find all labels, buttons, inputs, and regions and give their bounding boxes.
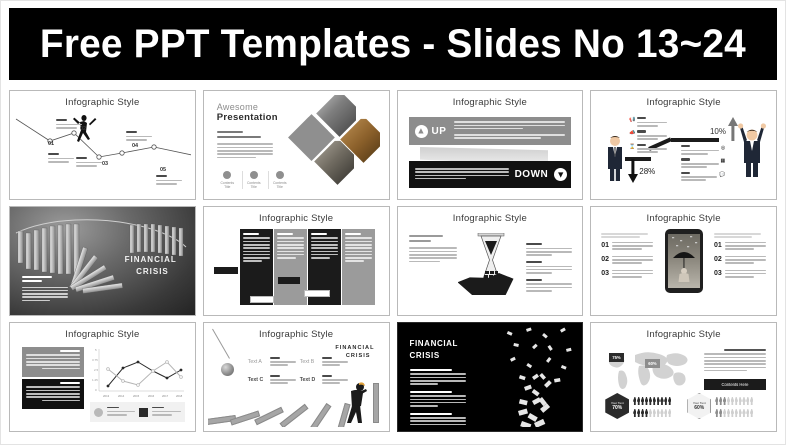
crisis-title-line2: CRISIS	[136, 267, 169, 276]
label-text-b: Text B	[300, 359, 314, 365]
svg-text:2018: 2018	[176, 394, 183, 398]
slide-thumb-21[interactable]: Infographic Style 53.752.51.250	[9, 322, 196, 432]
content-columns: Contents Title Contents Title Contents T…	[216, 171, 288, 189]
megaphone-icon: 📢	[629, 117, 635, 128]
people-row-3	[715, 397, 753, 405]
label-body-c	[270, 375, 296, 386]
slide-title: Infographic Style	[595, 329, 772, 340]
item-number: 02	[601, 256, 609, 266]
slide-thumb-15[interactable]: Infographic Style ▲ UP DOWN	[397, 90, 584, 200]
falling-money-photo	[474, 327, 578, 427]
up-body	[446, 121, 571, 140]
content-column[interactable]: Contents Title	[242, 171, 262, 189]
crisis-title-line2: CRISIS	[410, 351, 440, 360]
down-label: DOWN	[515, 169, 549, 180]
item-number: 02	[714, 256, 722, 266]
up-band: ▲ UP	[409, 117, 572, 145]
crisis-title-line1: FINANCIAL	[410, 339, 459, 348]
crisis-title-line2: CRISIS	[346, 353, 371, 359]
item-3	[526, 279, 572, 292]
slide-title: Infographic Style	[402, 97, 579, 108]
point-text-03	[76, 157, 102, 168]
slide-title: Infographic Style	[595, 97, 772, 108]
banner-title: Free PPT Templates - Slides No 13~24	[40, 22, 746, 67]
item-2	[410, 391, 466, 407]
arrow-up-icon: ▲	[415, 125, 428, 138]
businessman-celebrating-icon	[738, 121, 766, 177]
slide-caption	[409, 235, 457, 264]
slide-title: Infographic Style	[595, 213, 772, 224]
chart-icon	[250, 171, 258, 179]
content-column[interactable]: Contents Title	[268, 171, 288, 189]
content-box-gray[interactable]	[22, 347, 84, 377]
target-icon: ◎	[721, 145, 725, 156]
bullhorn-icon: 📣	[629, 130, 635, 141]
left-column: 01 02 03	[601, 233, 653, 279]
column-label-line2: Title	[272, 185, 288, 189]
point-text-05	[156, 175, 182, 186]
slide-grid: Infographic Style 01 02	[9, 90, 777, 432]
slide-thumb-18[interactable]: Infographic Style	[203, 206, 390, 316]
stair-step-high	[671, 138, 719, 142]
point-text-02	[56, 119, 82, 130]
slide-title: Infographic Style	[14, 329, 191, 340]
calculator-icon: ▦	[721, 158, 726, 169]
domino-standing	[373, 383, 379, 423]
badge-value: 70%	[612, 405, 622, 411]
businessman-standing-icon	[603, 135, 627, 181]
slide-title: Infographic Style	[208, 329, 385, 340]
point-number-01: 01	[48, 141, 54, 147]
content-column[interactable]: Contents Title	[216, 171, 236, 189]
coin-icon	[94, 408, 103, 417]
tag-label-3[interactable]	[278, 277, 300, 284]
point-text-04	[126, 131, 152, 142]
item-2	[526, 261, 572, 274]
body-block	[704, 349, 766, 373]
item-number: 03	[601, 270, 609, 280]
slide-thumb-17[interactable]: FINANCIAL CRISIS	[9, 206, 196, 316]
label-text-c: Text C	[248, 377, 263, 383]
man-pushing-silhouette	[345, 381, 367, 423]
tag-label-1[interactable]	[214, 267, 238, 274]
up-label: UP	[432, 126, 447, 137]
tag-label-4[interactable]	[304, 290, 330, 297]
slide-thumb-20[interactable]: Infographic Style	[590, 206, 777, 316]
svg-text:2015: 2015	[133, 394, 140, 398]
column-4[interactable]	[342, 229, 375, 305]
svg-text:0: 0	[95, 388, 97, 392]
slide-thumb-13[interactable]: Infographic Style 01 02	[9, 90, 196, 200]
svg-text:2017: 2017	[162, 394, 169, 398]
slide-thumb-14[interactable]: Awesome Presentation	[203, 90, 390, 200]
stat-badge-1: Your Text 70%	[605, 393, 629, 419]
banner: Free PPT Templates - Slides No 13~24	[9, 8, 777, 80]
slide-title: Infographic Style	[402, 213, 579, 224]
chat-icon: 💬	[719, 172, 725, 183]
svg-text:1.25: 1.25	[92, 378, 98, 382]
label-text-a: Text A	[248, 359, 262, 365]
wrecking-ball-icon	[221, 363, 234, 376]
svg-text:2.5: 2.5	[94, 368, 99, 372]
slide-title: Infographic Style	[208, 213, 385, 224]
right-column: 01 02 03	[714, 233, 766, 279]
people-row-1	[633, 397, 671, 405]
point-number-05: 05	[160, 167, 166, 173]
dual-line-chart: 53.752.51.250 201320142015 201620172018	[90, 347, 186, 401]
svg-text:3.75: 3.75	[92, 358, 98, 362]
items	[410, 369, 466, 427]
svg-text:2016: 2016	[148, 394, 155, 398]
label-text-d: Text D	[300, 377, 315, 383]
cart-icon	[139, 408, 148, 417]
column-label-line2: Title	[246, 185, 262, 189]
document-icon	[223, 171, 231, 179]
item-3	[410, 413, 466, 427]
item-number: 03	[714, 270, 722, 280]
umbrella-money-rain-photo	[668, 234, 700, 288]
right-items	[526, 243, 572, 293]
slide-thumb-24[interactable]: Infographic Style 75% 60%	[590, 322, 777, 432]
svg-text:2014: 2014	[118, 394, 125, 398]
svg-text:5: 5	[95, 348, 97, 352]
hourglass-icon: ⌛	[629, 144, 635, 155]
ppt-template-gallery: Free PPT Templates - Slides No 13~24 Inf…	[0, 0, 786, 445]
left-items: 📢 📣 ⌛	[629, 117, 667, 155]
cta-button[interactable]: Contents Here	[704, 379, 766, 390]
slide-thumb-16[interactable]: Infographic Style	[590, 90, 777, 200]
phone-screen-photo	[668, 234, 700, 288]
arrow-down-icon: ▼	[554, 168, 567, 181]
down-body	[409, 168, 515, 181]
arrow-up-icon	[728, 117, 738, 141]
crisis-title-line1: FINANCIAL	[125, 255, 177, 264]
column-1[interactable]	[240, 229, 273, 305]
slide-caption	[22, 276, 68, 303]
slide-thumb-23[interactable]: FINANCIAL CRISIS	[397, 322, 584, 432]
stat-badge-2: Your Text 60%	[687, 393, 711, 419]
slide-thumb-22[interactable]: Infographic Style FI	[203, 322, 390, 432]
stat-down-value: 28%	[639, 167, 655, 176]
label-body-a	[270, 357, 296, 368]
people-row-4	[715, 409, 753, 417]
badge-value: 60%	[694, 405, 704, 411]
point-number-04: 04	[132, 143, 138, 149]
crisis-title-line1: FINANCIAL	[335, 345, 374, 351]
people-row-2	[633, 409, 671, 417]
map-callout-2: 60%	[645, 359, 659, 368]
label-body-d	[322, 375, 348, 386]
diamond-photo-collage	[297, 101, 381, 179]
item-1	[526, 243, 572, 256]
gear-icon	[276, 171, 284, 179]
tag-label-2[interactable]	[250, 296, 274, 303]
label-body-b	[322, 357, 348, 368]
column-label-line2: Title	[219, 185, 236, 189]
right-items: ◎ ▦ 💬	[681, 145, 725, 183]
column-2[interactable]	[274, 229, 307, 305]
item-number: 01	[601, 242, 609, 252]
chart-legend	[90, 402, 185, 422]
slide-body	[217, 131, 273, 160]
map-callout-1: 75%	[609, 353, 623, 362]
content-box-dark[interactable]	[22, 379, 84, 409]
arrow-down-icon	[628, 159, 638, 183]
slide-title: Infographic Style	[14, 97, 191, 108]
down-band: DOWN ▼	[409, 161, 572, 188]
item-number: 01	[714, 242, 722, 252]
domino-plank	[279, 404, 308, 427]
point-number-03: 03	[102, 161, 108, 167]
item-1	[410, 369, 466, 385]
slide-thumb-19[interactable]: Infographic Style	[397, 206, 584, 316]
smartphone-mockup	[665, 229, 703, 293]
svg-text:2013: 2013	[103, 394, 110, 398]
domino-plank	[308, 403, 331, 427]
point-text-01	[48, 153, 74, 164]
stat-up-value: 10%	[710, 127, 726, 136]
